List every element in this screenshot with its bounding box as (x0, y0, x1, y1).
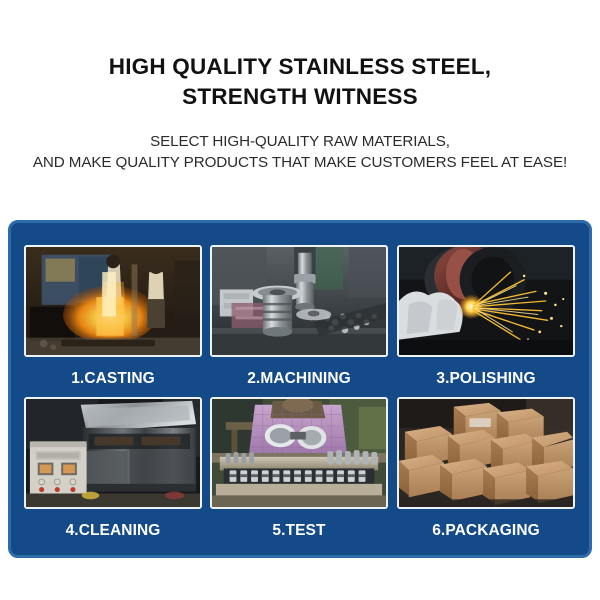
process-panel: 1.CASTING (8, 220, 592, 558)
process-step-label: 2.MACHINING (210, 370, 388, 388)
process-step-casting[interactable]: 1.CASTING (24, 245, 202, 388)
process-grid: 1.CASTING (11, 223, 589, 555)
page-title: HIGH QUALITY STAINLESS STEEL, STRENGTH W… (0, 52, 600, 112)
process-step-label: 1.CASTING (24, 370, 202, 388)
process-step-machining[interactable]: 2.MACHINING (210, 245, 388, 388)
process-step-polishing[interactable]: 3.POLISHING (397, 245, 575, 388)
polishing-photo (397, 245, 575, 357)
process-step-cleaning[interactable]: 4.CLEANING (24, 397, 202, 540)
machining-photo (210, 245, 388, 357)
process-step-label: 6.PACKAGING (397, 522, 575, 540)
process-step-label: 5.TEST (210, 522, 388, 540)
page-subtitle-line2: AND MAKE QUALITY PRODUCTS THAT MAKE CUST… (0, 152, 600, 173)
process-step-packaging[interactable]: 6.PACKAGING (397, 397, 575, 540)
process-step-test[interactable]: 5.TEST (210, 397, 388, 540)
process-step-label: 3.POLISHING (397, 370, 575, 388)
page-subtitle: SELECT HIGH-QUALITY RAW MATERIALS, AND M… (0, 131, 600, 173)
page-subtitle-line1: SELECT HIGH-QUALITY RAW MATERIALS, (150, 133, 450, 150)
packaging-photo (397, 397, 575, 509)
page-title-line1: HIGH QUALITY STAINLESS STEEL, (109, 54, 492, 79)
test-photo (210, 397, 388, 509)
casting-photo (24, 245, 202, 357)
process-step-label: 4.CLEANING (24, 522, 202, 540)
page-title-line2: STRENGTH WITNESS (0, 82, 600, 112)
promo-banner: HIGH QUALITY STAINLESS STEEL, STRENGTH W… (0, 0, 600, 600)
cleaning-photo (24, 397, 202, 509)
